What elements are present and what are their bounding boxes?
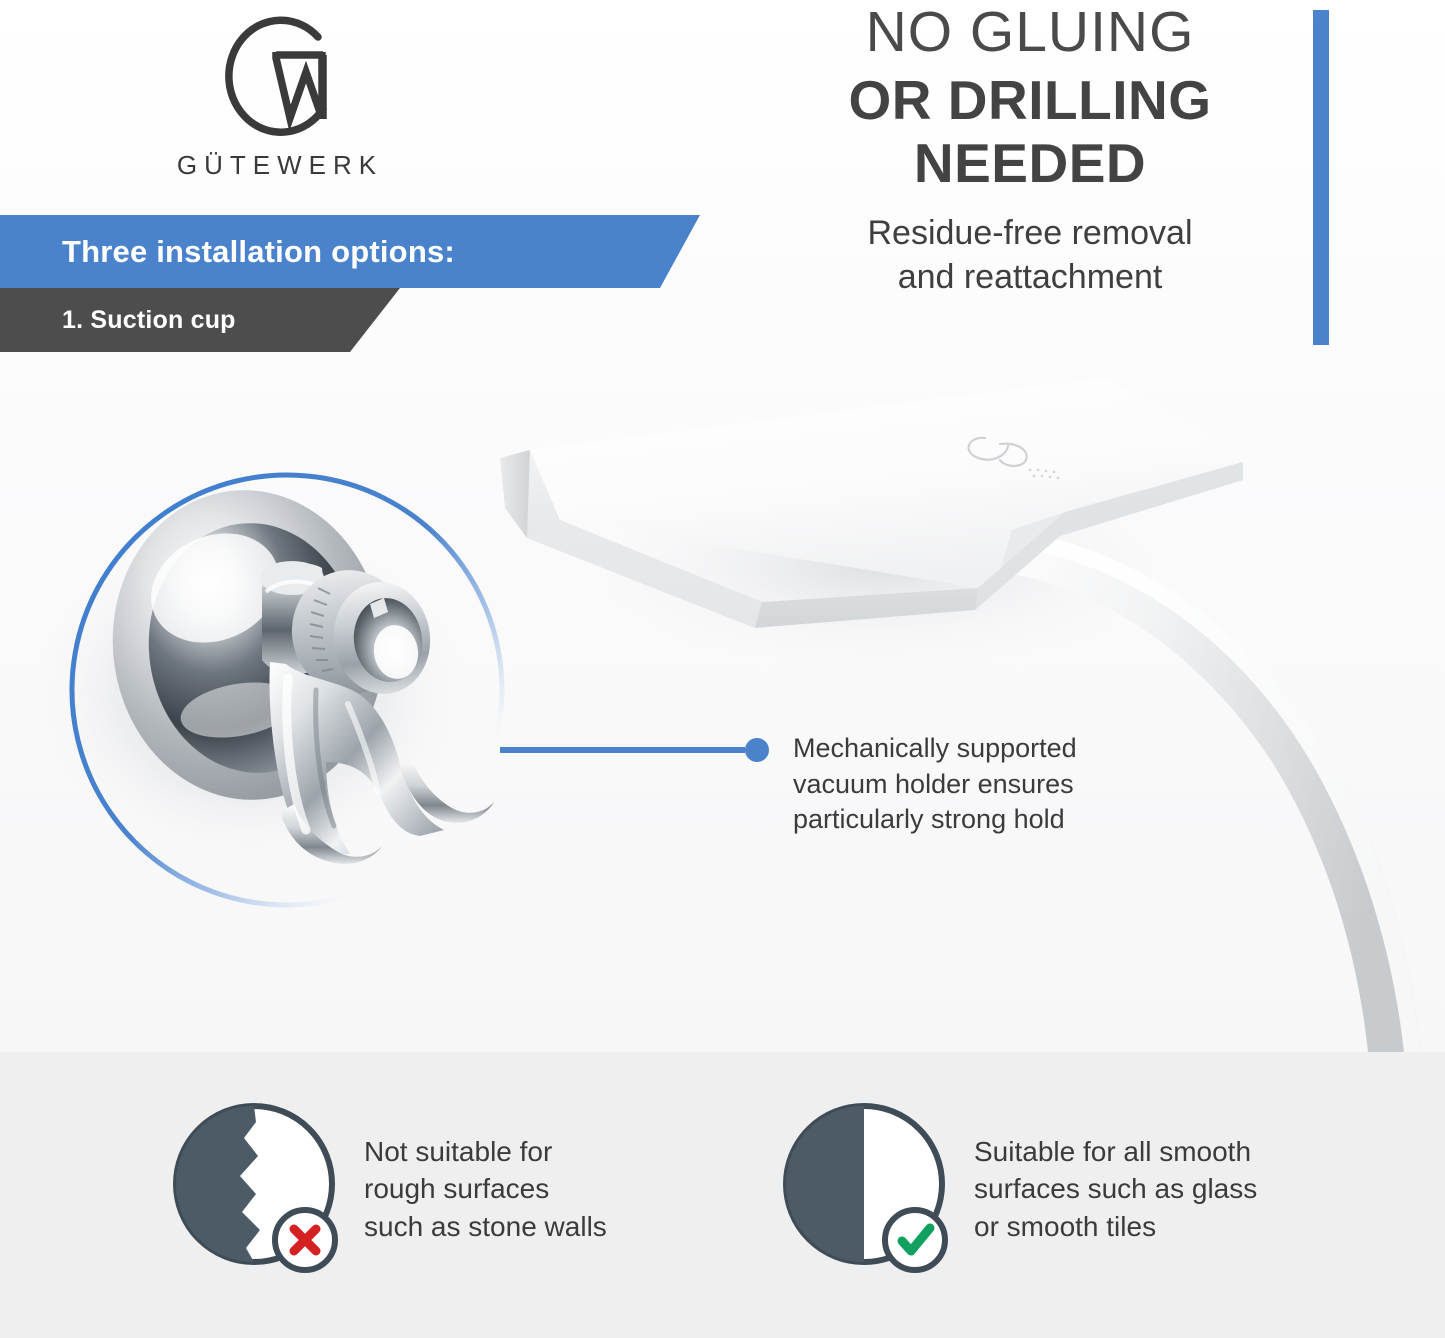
suction-cup-step-label: 1. Suction cup [0,306,236,335]
installation-options-label: Three installation options: [0,234,455,270]
surface-text-rough: Not suitable for rough surfaces such as … [364,1133,607,1245]
installation-options-banner: Three installation options: [0,215,700,288]
headline-line-3: NEEDED [760,133,1300,195]
callout-block: Mechanically supported vacuum holder ens… [793,731,1173,838]
rough-surface-circle-icon [168,1098,346,1276]
brand-wordmark: GÜTEWERK [150,150,410,181]
smooth-surface-circle-icon [778,1098,956,1276]
brand-logo: GÜTEWERK [150,6,410,181]
surface-item-rough: Not suitable for rough surfaces such as … [168,1102,607,1276]
header-accent-rule [1313,10,1329,345]
gutewerk-g-w-monogram-icon [190,6,370,146]
headline-block: NO GLUING OR DRILLING NEEDED Residue-fre… [760,0,1300,299]
top-area: GÜTEWERK Three installation options: 1. … [0,0,1445,1052]
product-stage [0,360,1445,1052]
headline-line-1: NO GLUING [760,2,1300,64]
suction-cup-step-banner: 1. Suction cup [0,288,400,352]
white-squeegee-icon [500,378,1420,1052]
callout-text: Mechanically supported vacuum holder ens… [793,731,1173,838]
leader-line-dot-icon [745,738,769,762]
surface-text-smooth: Suitable for all smooth surfaces such as… [974,1133,1257,1245]
headline-subtitle-line-1: Residue-free removal [760,211,1300,255]
callout-leader-line [500,738,769,762]
product-infographic: GÜTEWERK Three installation options: 1. … [0,0,1445,1338]
headline-line-2: OR DRILLING [760,70,1300,132]
surface-item-smooth: Suitable for all smooth surfaces such as… [778,1102,1257,1276]
headline-subtitle-line-2: and reattachment [760,255,1300,299]
